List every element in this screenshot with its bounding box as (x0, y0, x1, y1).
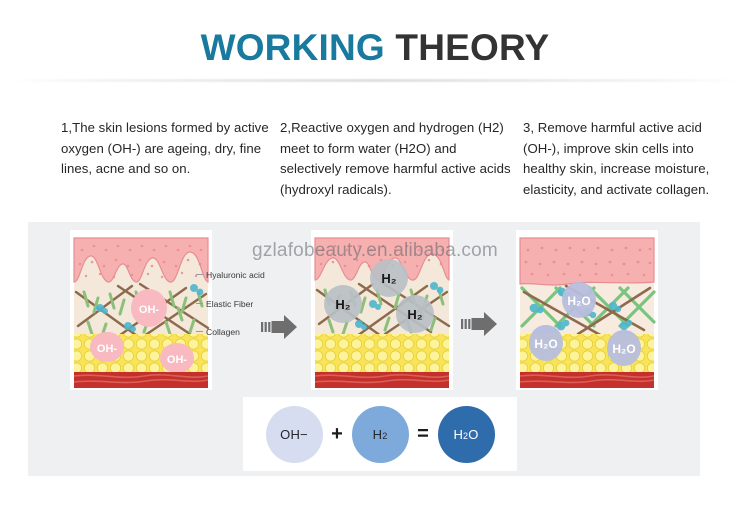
caption-step-1: 1,The skin lesions formed by active oxyg… (61, 118, 283, 180)
molecule-h2: H2 (352, 406, 409, 463)
leader-label-collagen: Collagen (206, 327, 240, 337)
skin-panel-reaction: H₂ H₂ H₂ (311, 230, 453, 390)
page-header: WORKING THEORY (0, 0, 750, 86)
svg-text:H₂: H₂ (407, 307, 422, 322)
svg-text:H₂: H₂ (381, 271, 396, 286)
svg-text:H₂O: H₂O (534, 337, 557, 351)
arrow-right-icon (460, 309, 498, 339)
flow-arrow-2 (460, 309, 498, 339)
flow-arrow-1 (260, 312, 298, 342)
leader-line-hyaluronic-acid (196, 274, 203, 275)
svg-text:OH-: OH- (139, 304, 160, 316)
molecule-oh-minus: OH− (266, 406, 323, 463)
svg-text:OH-: OH- (167, 354, 188, 366)
caption-step-2: 2,Reactive oxygen and hydrogen (H2) meet… (280, 118, 514, 200)
svg-text:OH-: OH- (97, 343, 118, 355)
caption-row: 1,The skin lesions formed by active oxyg… (0, 118, 750, 218)
skin-panel-healthy: H₂O H₂O H₂O H₂O H₂O (516, 230, 658, 390)
leader-label-elastic-fiber: Elastic Fiber (206, 299, 253, 309)
skin-panel-damaged: OH- OH- OH- OH- OH- (70, 230, 212, 390)
page-title-rest: THEORY (395, 27, 549, 68)
svg-text:H₂O: H₂O (567, 294, 590, 308)
operator-equals: = (409, 423, 438, 446)
operator-plus: + (323, 423, 352, 446)
title-divider (8, 79, 742, 82)
leader-line-elastic-fiber (196, 303, 203, 304)
skin-cross-section-healthy-illustration: H₂O H₂O H₂O H₂O H₂O (516, 230, 658, 390)
page-title-accent: WORKING (201, 27, 385, 68)
skin-cross-section-reaction-illustration: H₂ H₂ H₂ (311, 230, 453, 390)
leader-label-hyaluronic-acid: Hyaluronic acid (206, 270, 265, 280)
svg-text:H₂: H₂ (335, 297, 350, 312)
reaction-formula: OH− + H2 = H2O (243, 397, 517, 471)
caption-step-3: 3, Remove harmful active acid (OH-), imp… (523, 118, 737, 200)
skin-cross-section-damaged-illustration: OH- OH- OH- OH- OH- (70, 230, 212, 390)
page-title: WORKING THEORY (0, 26, 750, 70)
molecule-h2o: H2O (438, 406, 495, 463)
arrow-right-icon (260, 312, 298, 342)
svg-text:H₂O: H₂O (612, 342, 635, 356)
leader-line-collagen (196, 331, 203, 332)
